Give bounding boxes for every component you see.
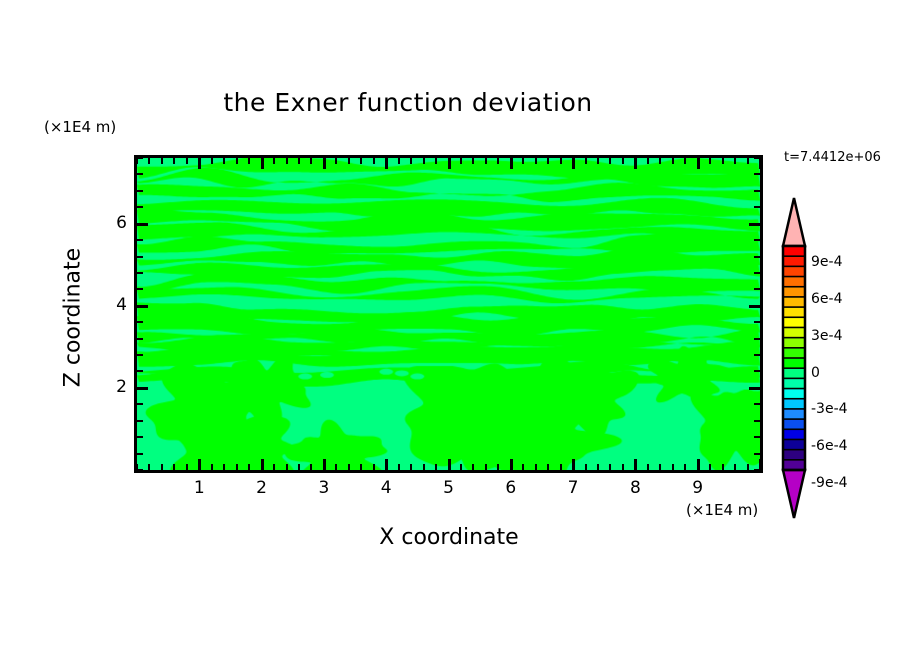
y-tick-left — [137, 272, 143, 274]
x-tick-bottom — [236, 464, 238, 470]
x-tick-top — [747, 158, 749, 164]
plot-canvas: the Exner function deviation (×1E4 m) t=… — [0, 0, 904, 654]
x-tick-bottom — [448, 459, 451, 470]
y-axis-unit-label: (×1E4 m) — [44, 118, 116, 136]
y-tick-left — [137, 453, 143, 455]
colorbar-band — [783, 256, 805, 267]
y-tick-left — [137, 256, 143, 258]
y-tick-left — [137, 206, 143, 208]
y-tick-left — [137, 321, 143, 323]
colorbar-tick-label: -9e-4 — [811, 475, 848, 491]
x-tick-bottom — [634, 459, 637, 470]
x-tick-top — [709, 158, 711, 164]
x-tick-top — [348, 158, 350, 164]
colorbar-band — [783, 399, 805, 410]
y-tick-left — [137, 239, 143, 241]
colorbar-band — [783, 348, 805, 359]
x-tick-bottom — [248, 464, 250, 470]
y-tick-label: 4 — [101, 295, 127, 315]
colorbar-band — [783, 246, 805, 257]
x-tick-top — [385, 158, 388, 169]
x-tick-bottom — [472, 464, 474, 470]
x-tick-bottom — [360, 464, 362, 470]
x-tick-bottom — [722, 464, 724, 470]
x-tick-top — [273, 158, 275, 164]
x-tick-top — [286, 158, 288, 164]
x-tick-label: 1 — [184, 478, 214, 498]
y-tick-right — [754, 370, 760, 372]
x-tick-label: 4 — [371, 478, 401, 498]
x-tick-bottom — [186, 464, 188, 470]
x-tick-top — [298, 158, 300, 164]
colorbar-band — [783, 277, 805, 288]
colorbar-tick-label: -6e-4 — [811, 438, 848, 454]
x-tick-bottom — [497, 464, 499, 470]
y-tick-right — [754, 190, 760, 192]
y-tick-left — [137, 469, 143, 471]
x-tick-top — [261, 158, 264, 169]
x-tick-bottom — [173, 464, 175, 470]
y-tick-left — [137, 420, 143, 422]
x-tick-bottom — [435, 464, 437, 470]
x-tick-top — [497, 158, 499, 164]
x-tick-top — [236, 158, 238, 164]
x-tick-bottom — [198, 459, 201, 470]
x-tick-top — [448, 158, 451, 169]
x-tick-top — [211, 158, 213, 164]
colorbar-band — [783, 368, 805, 379]
x-tick-bottom — [148, 464, 150, 470]
x-tick-top — [585, 158, 587, 164]
x-tick-bottom — [747, 464, 749, 470]
colorbar-band — [783, 327, 805, 338]
y-tick-left — [137, 190, 143, 192]
colorbar-band — [783, 450, 805, 461]
y-tick-right — [749, 305, 760, 308]
y-tick-right — [754, 321, 760, 323]
y-tick-right — [754, 288, 760, 290]
colorbar-tick-label: 9e-4 — [811, 254, 842, 270]
x-tick-top — [248, 158, 250, 164]
x-tick-bottom — [460, 464, 462, 470]
x-tick-bottom — [410, 464, 412, 470]
y-tick-left — [137, 288, 143, 290]
y-tick-left — [137, 436, 143, 438]
x-tick-bottom — [485, 464, 487, 470]
x-tick-bottom — [161, 464, 163, 470]
x-tick-top — [609, 158, 611, 164]
x-tick-bottom — [223, 464, 225, 470]
x-tick-top — [697, 158, 700, 169]
y-tick-right — [754, 206, 760, 208]
x-tick-top — [435, 158, 437, 164]
x-tick-top — [173, 158, 175, 164]
x-axis-unit-label: (×1E4 m) — [686, 501, 758, 519]
colorbar: 9e-46e-43e-40-3e-4-6e-4-9e-4 — [780, 196, 900, 520]
x-tick-label: 2 — [247, 478, 277, 498]
x-tick-top — [522, 158, 524, 164]
colorbar-band — [783, 389, 805, 400]
x-tick-top — [373, 158, 375, 164]
y-tick-left — [137, 338, 143, 340]
y-tick-left — [137, 305, 148, 308]
x-tick-bottom — [585, 464, 587, 470]
y-tick-label: 2 — [101, 377, 127, 397]
x-tick-top — [335, 158, 337, 164]
x-tick-bottom — [609, 464, 611, 470]
y-tick-right — [754, 157, 760, 159]
y-axis-title: Z coordinate — [61, 223, 86, 413]
y-tick-right — [754, 469, 760, 471]
x-tick-top — [323, 158, 326, 169]
x-tick-top — [360, 158, 362, 164]
x-tick-top — [186, 158, 188, 164]
x-tick-bottom — [672, 464, 674, 470]
time-stamp-label: t=7.4412e+06 — [784, 150, 881, 165]
colorbar-swatches — [780, 196, 900, 520]
y-tick-left — [137, 157, 143, 159]
y-tick-left — [137, 354, 143, 356]
colorbar-under-arrow — [783, 470, 805, 518]
y-tick-left — [137, 403, 143, 405]
colorbar-tick-label: 0 — [811, 365, 820, 381]
x-tick-bottom — [697, 459, 700, 470]
x-tick-bottom — [323, 459, 326, 470]
x-tick-bottom — [286, 464, 288, 470]
x-tick-bottom — [647, 464, 649, 470]
x-tick-top — [759, 158, 762, 169]
x-tick-top — [734, 158, 736, 164]
x-tick-bottom — [510, 459, 513, 470]
x-tick-top — [310, 158, 312, 164]
x-tick-bottom — [298, 464, 300, 470]
colorbar-band — [783, 358, 805, 369]
x-tick-bottom — [734, 464, 736, 470]
colorbar-band — [783, 409, 805, 420]
x-tick-top — [460, 158, 462, 164]
x-tick-bottom — [622, 464, 624, 470]
x-tick-bottom — [385, 459, 388, 470]
colorbar-tick-label: 6e-4 — [811, 291, 842, 307]
x-tick-label: 9 — [683, 478, 713, 498]
x-tick-bottom — [273, 464, 275, 470]
colorbar-band — [783, 266, 805, 277]
x-tick-bottom — [597, 464, 599, 470]
x-tick-label: 7 — [558, 478, 588, 498]
x-tick-top — [547, 158, 549, 164]
y-tick-label: 6 — [101, 213, 127, 233]
colorbar-band — [783, 287, 805, 298]
x-tick-top — [622, 158, 624, 164]
x-tick-bottom — [659, 464, 661, 470]
x-tick-top — [672, 158, 674, 164]
y-tick-right — [754, 453, 760, 455]
x-tick-top — [398, 158, 400, 164]
x-tick-top — [560, 158, 562, 164]
x-tick-bottom — [572, 459, 575, 470]
x-tick-bottom — [373, 464, 375, 470]
x-tick-bottom — [709, 464, 711, 470]
y-tick-left — [137, 173, 143, 175]
y-tick-right — [749, 223, 760, 226]
y-tick-right — [754, 420, 760, 422]
colorbar-band — [783, 429, 805, 440]
x-tick-top — [634, 158, 637, 169]
colorbar-band — [783, 338, 805, 349]
y-tick-right — [754, 239, 760, 241]
x-tick-bottom — [547, 464, 549, 470]
y-tick-left — [137, 370, 143, 372]
x-tick-top — [572, 158, 575, 169]
y-tick-right — [754, 403, 760, 405]
colorbar-band — [783, 419, 805, 430]
x-tick-top — [597, 158, 599, 164]
x-tick-bottom — [335, 464, 337, 470]
x-tick-top — [684, 158, 686, 164]
x-tick-top — [410, 158, 412, 164]
colorbar-band — [783, 307, 805, 318]
y-tick-left — [137, 387, 148, 390]
colorbar-band — [783, 297, 805, 308]
x-tick-bottom — [261, 459, 264, 470]
x-tick-bottom — [211, 464, 213, 470]
x-tick-top — [510, 158, 513, 169]
contour-plot-area — [134, 155, 763, 473]
x-tick-top — [535, 158, 537, 164]
colorbar-band — [783, 439, 805, 450]
x-tick-bottom — [348, 464, 350, 470]
y-tick-right — [749, 387, 760, 390]
x-tick-top — [423, 158, 425, 164]
x-tick-bottom — [398, 464, 400, 470]
y-tick-right — [754, 338, 760, 340]
colorbar-over-arrow — [783, 198, 805, 246]
x-tick-bottom — [522, 464, 524, 470]
page-title: the Exner function deviation — [0, 88, 860, 117]
x-tick-top — [472, 158, 474, 164]
x-tick-bottom — [310, 464, 312, 470]
x-tick-top — [485, 158, 487, 164]
x-tick-top — [148, 158, 150, 164]
x-tick-label: 3 — [309, 478, 339, 498]
colorbar-band — [783, 317, 805, 328]
y-tick-right — [754, 256, 760, 258]
colorbar-tick-label: 3e-4 — [811, 328, 842, 344]
x-tick-top — [223, 158, 225, 164]
x-tick-bottom — [423, 464, 425, 470]
x-tick-label: 8 — [620, 478, 650, 498]
x-tick-bottom — [684, 464, 686, 470]
y-tick-left — [137, 223, 148, 226]
x-tick-top — [198, 158, 201, 169]
y-tick-right — [754, 436, 760, 438]
contour-field — [137, 158, 760, 470]
colorbar-band — [783, 378, 805, 389]
x-tick-top — [161, 158, 163, 164]
x-tick-top — [659, 158, 661, 164]
x-tick-top — [647, 158, 649, 164]
y-tick-right — [754, 173, 760, 175]
x-axis-title: X coordinate — [244, 525, 654, 550]
x-tick-bottom — [535, 464, 537, 470]
y-tick-right — [754, 272, 760, 274]
x-tick-label: 6 — [496, 478, 526, 498]
x-tick-bottom — [560, 464, 562, 470]
y-tick-right — [754, 354, 760, 356]
x-tick-label: 5 — [434, 478, 464, 498]
colorbar-tick-label: -3e-4 — [811, 401, 848, 417]
x-tick-top — [722, 158, 724, 164]
